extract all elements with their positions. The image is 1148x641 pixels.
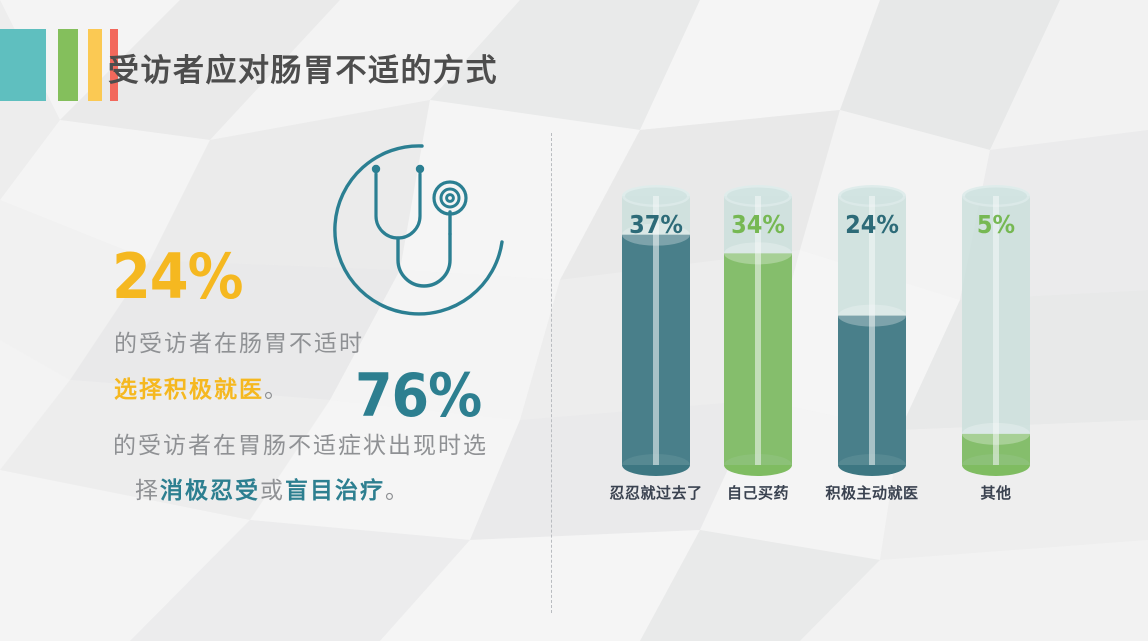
stethoscope-icon	[310, 138, 510, 318]
test-tube-bar-chart: 37% 34% 24% 5% 忍忍就过去了 自己买药 积极主动就医 其他	[551, 0, 1148, 641]
stat-b-line2: 择消极忍受或盲目治疗。	[135, 471, 410, 505]
stat-b-highlight-2: 盲目治疗	[285, 477, 385, 503]
bar-value-label: 37%	[629, 210, 683, 239]
bar-value-label: 34%	[731, 210, 785, 239]
stat-b-prefix: 择	[135, 477, 160, 503]
bar-value-label: 24%	[845, 210, 899, 239]
stat-b-line1: 的受访者在胃肠不适症状出现时选	[113, 426, 488, 460]
accent-bar-teal	[0, 29, 46, 101]
left-stats-panel: 24% 的受访者在肠胃不适时 选择积极就医。 76% 的受访者在胃肠不适症状出现…	[0, 118, 551, 641]
accent-bar-green	[58, 29, 78, 101]
infographic-canvas: 受访者应对肠胃不适的方式	[0, 0, 1148, 641]
bar-category-label: 忍忍就过去了	[609, 482, 702, 503]
bar-category-label: 自己买药	[727, 482, 789, 503]
stat-a-punct: 。	[264, 376, 289, 402]
page-title: 受访者应对肠胃不适的方式	[108, 45, 498, 90]
stat-a-line1: 的受访者在肠胃不适时	[114, 324, 364, 358]
stat-b-punct: 。	[385, 477, 410, 503]
stat-a-highlight: 选择积极就医	[114, 376, 264, 402]
stat-b-mid: 或	[260, 477, 285, 503]
stat-b-highlight-1: 消极忍受	[160, 477, 260, 503]
accent-bar-yellow	[88, 29, 102, 101]
bar-category-label: 积极主动就医	[825, 482, 918, 503]
bar-value-label: 5%	[977, 210, 1015, 239]
stat-a-value: 24%	[112, 246, 243, 308]
stat-b-value: 76%	[355, 366, 481, 426]
bar-category-label: 其他	[980, 482, 1011, 503]
stat-a-line2: 选择积极就医。	[114, 370, 289, 404]
